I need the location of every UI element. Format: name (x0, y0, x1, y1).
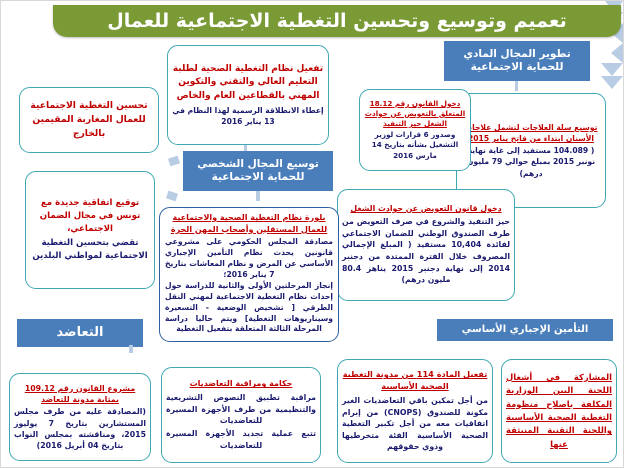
section-header-mutual-aid: التعاضد (17, 319, 143, 347)
box-treatment-basket-heading: توسيع سلة العلاجات لتشمل علاجات الأسنان … (461, 122, 601, 144)
box-work-accidents-heading: دخول قانون التعويض عن حوادث الشغل (350, 204, 501, 215)
box-mutual-governance-heading: حكامة ومراقبة التعاضديات (190, 378, 293, 390)
box-law-18-12-heading: دخول القانون رقم 18.12 المتعلق بالتعويض … (364, 99, 466, 129)
box-law-18-12: دخول القانون رقم 18.12 المتعلق بالتعويض … (359, 89, 471, 171)
box-tunisia-agreement: توقيع اتفاقية جديدة مع تونس في مجال الضم… (25, 171, 155, 289)
page-title: تعميم وتوسيع وتحسين التغطية الاجتماعية ل… (53, 5, 621, 37)
box-article-114-body: من أجل تمكين باقي التعاضديات الغير مكونة… (342, 395, 488, 453)
box-work-accidents-compensation: دخول قانون التعويض عن حوادث الشغل حيز ال… (337, 189, 515, 301)
box-abroad-coverage-heading: تحسين التغطية الاجتماعية للعمال المغاربة… (24, 99, 154, 142)
box-ministerial-committee-heading: المشاركة في أشغال اللجنة البين الوزارية … (506, 371, 612, 452)
box-self-employed-bullet-2: إنجاز المرحلتين الأولى والثانية للدراسة … (165, 281, 333, 335)
box-treatment-basket-body: ( 104.089 مستفيد إلى غاية نهاية نونبر 20… (461, 145, 601, 179)
box-self-employed-bullet-1: مصادقة المجلس الحكومي على مشروعي قانونين… (165, 237, 333, 280)
box-law-18-12-body: وصدور 6 قرارات لوزير التشغيل بشأنه بتاري… (364, 130, 466, 161)
box-mutual-law-body: (المصادقة عليه من طرف مجلس المستشارين بت… (14, 406, 146, 451)
section-header-material-scope: تطوير المجال المادي للحماية الاجتماعية (444, 41, 590, 81)
connector-material-scope (515, 81, 518, 91)
section-header-basic-insurance: التأمين الإجباري الأساسي (437, 319, 613, 341)
infographic-canvas: تعميم وتوسيع وتحسين التغطية الاجتماعية ل… (0, 0, 624, 468)
box-mutual-governance-bullet-2: تتبع عملية تجديد الأجهزة المسيرة للتعاضد… (166, 428, 316, 451)
box-students-health-heading: تفعيل نظام التغطية الصحية لطلبة التعليم … (172, 63, 324, 102)
arrow-down-personal-scope (601, 63, 623, 76)
arrow-down-mutual-aid (601, 76, 623, 89)
box-abroad-coverage: تحسين التغطية الاجتماعية للعمال المغاربة… (19, 87, 159, 153)
connector-personal-scope (256, 191, 260, 201)
box-students-health: تفعيل نظام التغطية الصحية لطلبة التعليم … (167, 45, 329, 145)
box-ministerial-committee: المشاركة في أشغال اللجنة البين الوزارية … (501, 359, 617, 463)
box-mutual-governance-bullet-1: مراقبة تطبيق النصوص التشريعية والتنظيمية… (166, 392, 316, 427)
box-work-accidents-body: حيز التنفيذ والشروع في صرف التعويض من طر… (342, 216, 510, 286)
box-mutual-law-heading: مشروع القانون رقم 109.12 بمثابة مدونة لل… (14, 383, 146, 406)
arrow-left-lower (611, 43, 623, 63)
box-tunisia-agreement-body: تقضي بتحسين التغطية الاجتماعية لمواطني ا… (30, 237, 150, 263)
box-tunisia-agreement-heading: توقيع اتفاقية جديدة مع تونس في مجال الضم… (30, 197, 150, 236)
box-mutual-governance: حكامة ومراقبة التعاضديات مراقبة تطبيق ال… (161, 367, 321, 463)
box-self-employed: بلورة نظام التغطية الصحية والاجتماعية لل… (159, 207, 339, 342)
box-mutual-law: مشروع القانون رقم 109.12 بمثابة مدونة لل… (9, 373, 151, 461)
connector-left-upper (168, 156, 180, 167)
box-article-114-heading: تفعيل المادة 114 من مدونة التغطية الصحية… (342, 369, 488, 393)
box-self-employed-heading: بلورة نظام التغطية الصحية والاجتماعية لل… (165, 212, 333, 235)
connector-left-lower (166, 191, 178, 202)
box-students-health-body: إعطاء الانطلاقة الرسمية لهذا النظام في 1… (172, 105, 324, 127)
connector-mutual-aid (129, 345, 133, 353)
section-header-personal-scope: توسيع المجال الشخصي للحماية الاجتماعية (183, 151, 333, 191)
box-article-114: تفعيل المادة 114 من مدونة التغطية الصحية… (337, 359, 493, 463)
